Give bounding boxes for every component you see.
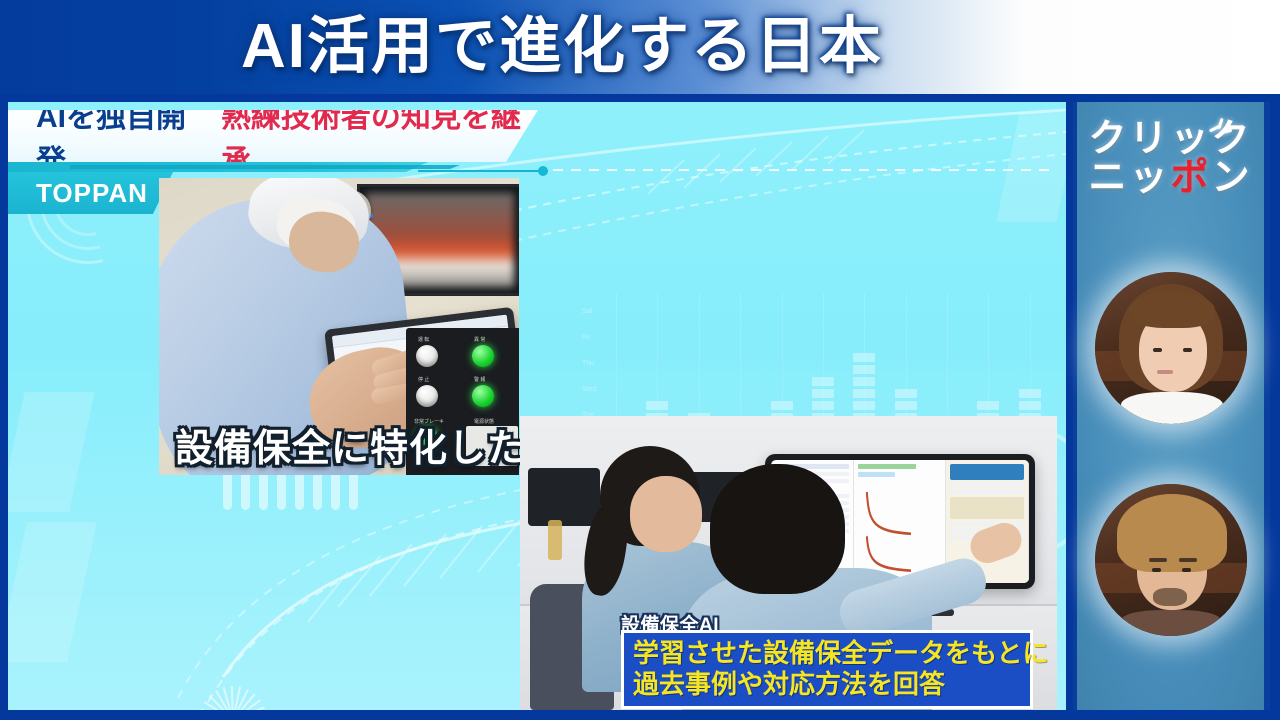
program-logo-line2: ニッポン	[1077, 159, 1264, 198]
program-sidebar: クリック ニッポン	[1073, 102, 1270, 710]
page-title: AI活用で進化する日本	[0, 2, 1202, 92]
broadcast-screen: AI活用で進化する日本	[0, 0, 1280, 720]
photo2-caption-line2: 過去事例や対応方法を回答	[633, 669, 1021, 700]
photo1-panel-label-3: 停 止	[418, 376, 429, 383]
photo1-caption-text: 設備保全に特化した	[175, 428, 526, 470]
photo2-side-monitor-left	[528, 468, 600, 526]
bottom-frame-border	[0, 710, 1280, 720]
decor-chart-ytick: Wed	[582, 386, 596, 393]
sparkle-icon	[1205, 118, 1231, 144]
subtitle-underline-accent	[70, 165, 460, 169]
photo2-bottle	[548, 520, 562, 560]
subtitle-accent-dot	[538, 166, 548, 176]
avatar-presenter-male	[1095, 484, 1247, 636]
main-content-frame: 75% 03 100% 04 SatFriThuWedTueMonJanuary…	[8, 102, 1066, 710]
subtitle-accent-line	[418, 170, 548, 172]
subtitle-dashed-line	[553, 169, 1056, 171]
program-logo: クリック ニッポン	[1077, 120, 1264, 198]
photo1-lamp-white-2	[416, 385, 438, 407]
decor-chart-ytick: Fri	[582, 334, 590, 341]
photo2-caption-line1: 学習させた設備保全データをもとに	[633, 638, 1021, 669]
subtitle-bar: AIを独自開発 熟練技術者の知見を継承	[8, 110, 538, 162]
decor-diamond-3	[996, 112, 1066, 222]
decor-chart-ytick: Sat	[582, 308, 593, 315]
decor-diamond-1	[8, 392, 95, 512]
photo1-lamp-green-1	[472, 345, 494, 367]
photo1-panel-label-2: 異 常	[474, 336, 485, 343]
decor-diamond-2	[8, 522, 97, 662]
photo2-caption-box: 学習させた設備保全データをもとに 過去事例や対応方法を回答	[621, 630, 1033, 709]
source-tag: TOPPAN	[8, 172, 173, 214]
avatar-presenter-female	[1095, 272, 1247, 424]
photo1-panel-label-4: 警 報	[474, 376, 485, 383]
program-logo-line1: クリック	[1088, 120, 1252, 159]
left-frame-border	[0, 94, 8, 720]
decor-radial-burst	[168, 650, 298, 710]
photo1-lamp-green-2	[472, 385, 494, 407]
decor-chart-ytick: Thu	[582, 360, 594, 367]
source-tag-label: TOPPAN	[36, 178, 148, 209]
photo1-caption: 設備保全に特化したAI	[175, 417, 566, 472]
photo1-lamp-white-1	[416, 345, 438, 367]
photo1-panel-label-1: 運 転	[418, 336, 429, 343]
title-banner: AI活用で進化する日本	[0, 0, 1280, 94]
